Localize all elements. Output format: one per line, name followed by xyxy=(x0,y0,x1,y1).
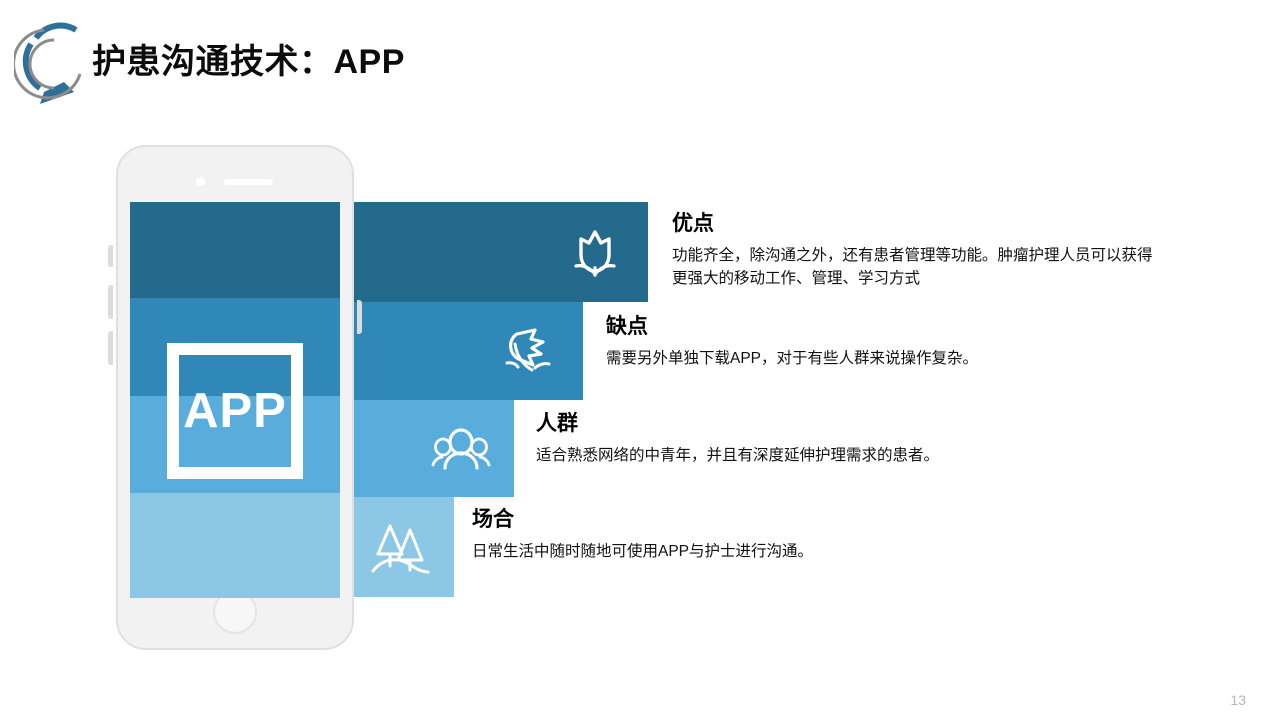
text-block-advantages: 优点 功能齐全，除沟通之外，还有患者管理等功能。肿瘤护理人员可以获得更强大的移动… xyxy=(672,210,1164,290)
block-body: 日常生活中随时随地可使用APP与护士进行沟通。 xyxy=(472,540,1032,563)
block-heading: 人群 xyxy=(536,410,1108,438)
text-block-occasion: 场合 日常生活中随时随地可使用APP与护士进行沟通。 xyxy=(472,506,1032,563)
page-title: 护患沟通技术：APP xyxy=(92,40,405,84)
people-group-icon xyxy=(430,418,492,480)
phone-button-volume-down xyxy=(108,285,113,319)
screen-band xyxy=(130,202,340,298)
phone-camera-icon xyxy=(196,177,205,186)
block-body: 适合熟悉网络的中青年，并且有深度延伸护理需求的患者。 xyxy=(536,444,1108,467)
text-block-disadvantages: 缺点 需要另外单独下载APP，对于有些人群来说操作复杂。 xyxy=(606,313,1166,370)
app-badge: APP xyxy=(167,343,303,479)
wilted-flower-icon xyxy=(499,320,561,382)
phone-button-power xyxy=(357,300,362,334)
block-heading: 场合 xyxy=(472,506,1032,534)
slide-canvas: 护患沟通技术：APP xyxy=(0,0,1280,720)
circular-arc-logo-icon xyxy=(14,16,96,106)
phone-button-silent xyxy=(108,331,113,365)
text-block-audience: 人群 适合熟悉网络的中青年，并且有深度延伸护理需求的患者。 xyxy=(536,410,1108,467)
block-heading: 缺点 xyxy=(606,313,1166,341)
page-number: 13 xyxy=(1230,692,1246,708)
screen-band xyxy=(130,493,340,598)
block-body: 需要另外单独下载APP，对于有些人群来说操作复杂。 xyxy=(606,347,1166,370)
slide-header: 护患沟通技术：APP xyxy=(0,0,1280,120)
block-heading: 优点 xyxy=(672,210,1164,238)
phone-button-volume-up xyxy=(108,245,113,267)
trees-icon xyxy=(370,516,432,578)
phone-speaker-icon xyxy=(224,179,273,185)
app-badge-label: APP xyxy=(183,387,287,436)
block-body: 功能齐全，除沟通之外，还有患者管理等功能。肿瘤护理人员可以获得更强大的移动工作、… xyxy=(672,244,1164,290)
tulip-icon xyxy=(564,221,626,283)
